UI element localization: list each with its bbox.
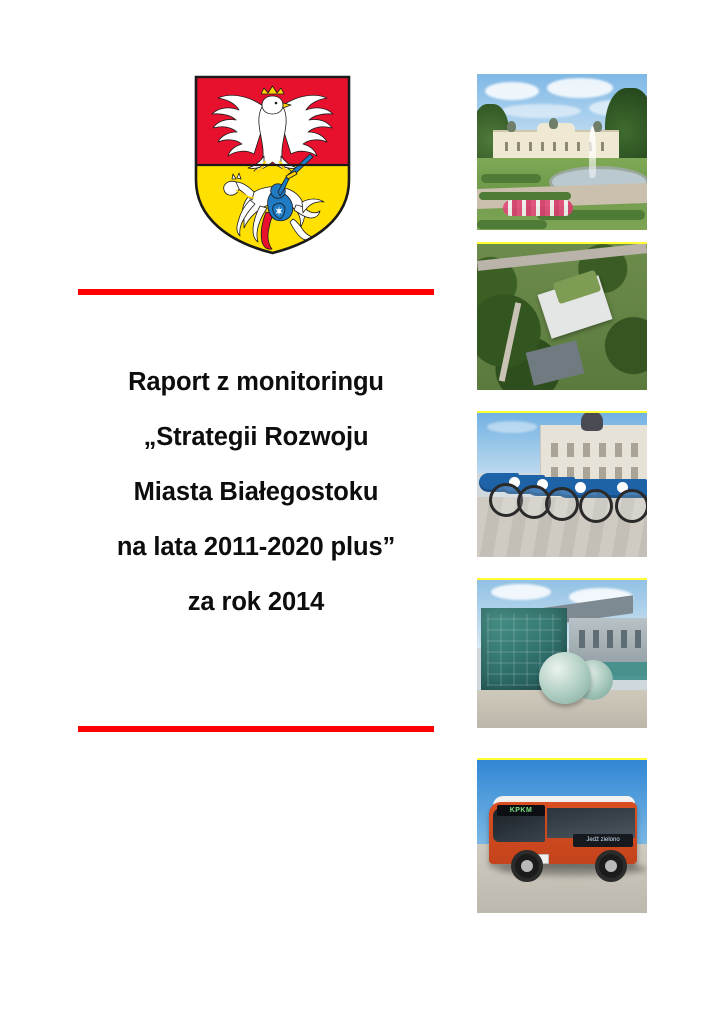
photo-branicki-palace bbox=[477, 74, 647, 230]
top-red-rule bbox=[78, 289, 434, 295]
bus-front-wheel bbox=[511, 850, 543, 882]
photo-strip: KPKM Jedź zielono bbox=[477, 74, 647, 913]
flower-bed bbox=[503, 200, 573, 216]
title-line-5: za rok 2014 bbox=[60, 575, 452, 630]
accent-line bbox=[477, 411, 647, 413]
accent-line bbox=[477, 242, 647, 244]
report-cover-page: Raport z monitoringu „Strategii Rozwoju … bbox=[0, 0, 725, 1024]
accent-line bbox=[477, 758, 647, 760]
fountain-jet bbox=[589, 126, 596, 178]
coat-of-arms-bialystok bbox=[190, 72, 355, 257]
title-line-1: Raport z monitoringu bbox=[60, 355, 452, 410]
accent-line bbox=[477, 578, 647, 580]
bike-rack-row bbox=[479, 461, 647, 519]
dome-tower bbox=[581, 411, 603, 431]
title-line-4: na lata 2011-2020 plus” bbox=[60, 520, 452, 575]
sculpture-sphere-front bbox=[539, 652, 591, 704]
title-line-3: Miasta Białegostoku bbox=[60, 465, 452, 520]
bus-destination-sign: KPKM bbox=[497, 805, 545, 816]
photo-aerial-campus bbox=[477, 242, 647, 390]
coat-of-arms-icon bbox=[190, 72, 355, 257]
bus-side-advert: Jedź zielono bbox=[573, 834, 633, 847]
bus-rear-wheel bbox=[595, 850, 627, 882]
photo-city-bikes bbox=[477, 411, 647, 557]
bottom-red-rule bbox=[78, 726, 434, 732]
photo-city-bus: KPKM Jedź zielono bbox=[477, 758, 647, 913]
photo-glass-building-sphere bbox=[477, 578, 647, 728]
page-title: Raport z monitoringu „Strategii Rozwoju … bbox=[60, 355, 452, 630]
title-line-2: „Strategii Rozwoju bbox=[60, 410, 452, 465]
